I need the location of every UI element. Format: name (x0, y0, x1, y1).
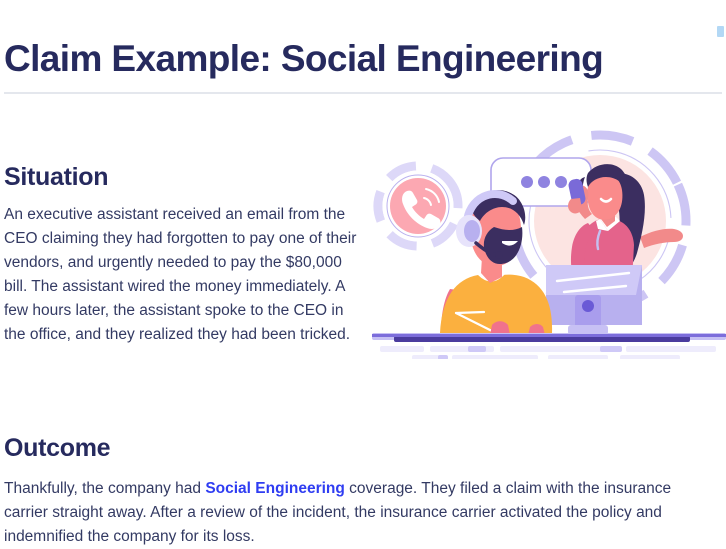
title-divider (4, 92, 722, 94)
desktop-monitor (546, 265, 642, 335)
typing-dot-2 (538, 176, 550, 188)
edge-marker-icon (717, 26, 724, 37)
situation-body-text: An executive assistant received an email… (4, 203, 360, 347)
ground-dashes (380, 346, 716, 359)
desk (372, 333, 726, 342)
outcome-body-text: Thankfully, the company had Social Engin… (4, 477, 718, 549)
typing-dot-3 (555, 176, 567, 188)
customer-support-phone-call-illustration (372, 127, 726, 359)
section-heading-outcome: Outcome (4, 433, 110, 463)
social-engineering-link[interactable]: Social Engineering (205, 480, 345, 497)
page-title: Claim Example: Social Engineering (4, 37, 603, 81)
typing-dot-1 (521, 176, 533, 188)
section-heading-situation: Situation (4, 162, 108, 192)
phone-icon-badge (372, 150, 474, 263)
claim-example-page: Claim Example: Social Engineering Situat… (0, 0, 726, 541)
outcome-text-before-link: Thankfully, the company had (4, 480, 205, 497)
